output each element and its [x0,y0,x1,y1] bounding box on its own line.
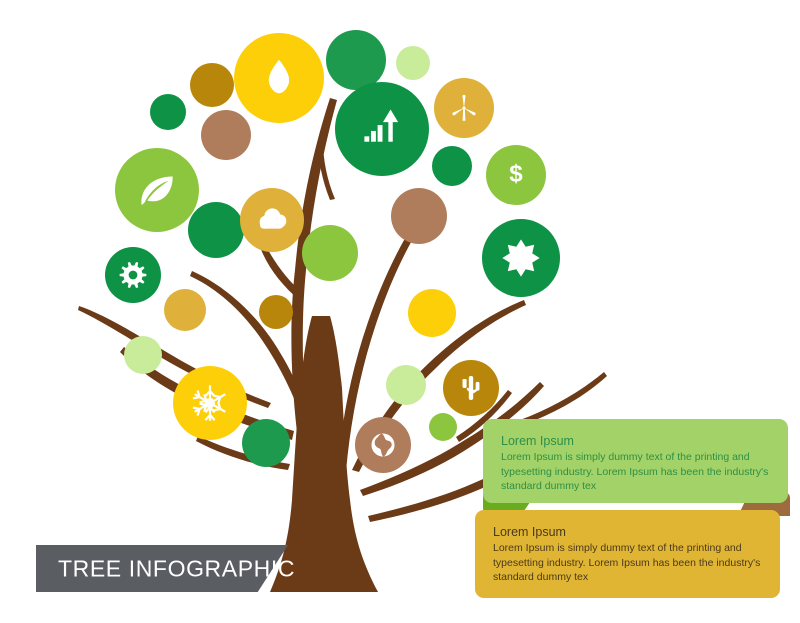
callout-yellow-title: Lorem Ipsum [493,524,762,540]
leaf-icon[interactable] [115,148,199,232]
callout-card-yellow[interactable]: Lorem Ipsum Lorem Ipsum is simply dummy … [475,510,780,598]
infographic-canvas: $ TREE INFOGRAPHIC Lorem Ipsum Lorem Ips… [0,0,800,623]
dollar-sign-icon[interactable]: $ [486,145,546,205]
snowflake-icon[interactable] [173,366,247,440]
leaf-dot-green-4 [432,146,472,186]
svg-text:$: $ [509,160,523,187]
wind-turbine-icon[interactable] [434,78,494,138]
leaf-dot-brown-2 [391,188,447,244]
callout-green-body: Lorem Ipsum is simply dummy text of the … [501,450,770,494]
leaf-dot-brown-1 [201,110,251,160]
leaf-dot-light-2 [429,413,457,441]
globe-icon[interactable] [355,417,411,473]
leaf-dot-pale-3 [386,365,426,405]
water-drop-icon[interactable] [234,33,324,123]
leaf-dot-green-3 [188,202,244,258]
callout-card-green[interactable]: Lorem Ipsum Lorem Ipsum is simply dummy … [483,419,788,503]
leaf-dot-green-5 [242,419,290,467]
leaf-dot-light-1 [302,225,358,281]
callout-yellow-body: Lorem Ipsum is simply dummy text of the … [493,541,762,585]
growth-chart-icon[interactable] [335,82,429,176]
leaf-dot-yellow-1 [408,289,456,337]
leaf-dot-pale-2 [124,336,162,374]
gear-icon[interactable] [105,247,161,303]
cactus-icon[interactable] [443,360,499,416]
dollar-sign-icon-glyph: $ [509,160,523,187]
globe-icon-glyph [371,433,395,457]
title-banner: TREE INFOGRAPHIC [36,545,288,592]
leaf-dot-green-1 [150,94,186,130]
page-title: TREE INFOGRAPHIC [58,555,295,582]
leaf-dot-green-2 [326,30,386,90]
cloud-icon[interactable] [240,188,304,252]
callout-green-title: Lorem Ipsum [501,433,770,449]
leaf-dot-olive-1 [190,63,234,107]
sun-icon-glyph [502,239,539,276]
leaf-dot-gold-1 [164,289,206,331]
leaf-dot-pale-1 [396,46,430,80]
sun-icon[interactable] [482,219,560,297]
leaf-dot-olive-2 [259,295,293,329]
